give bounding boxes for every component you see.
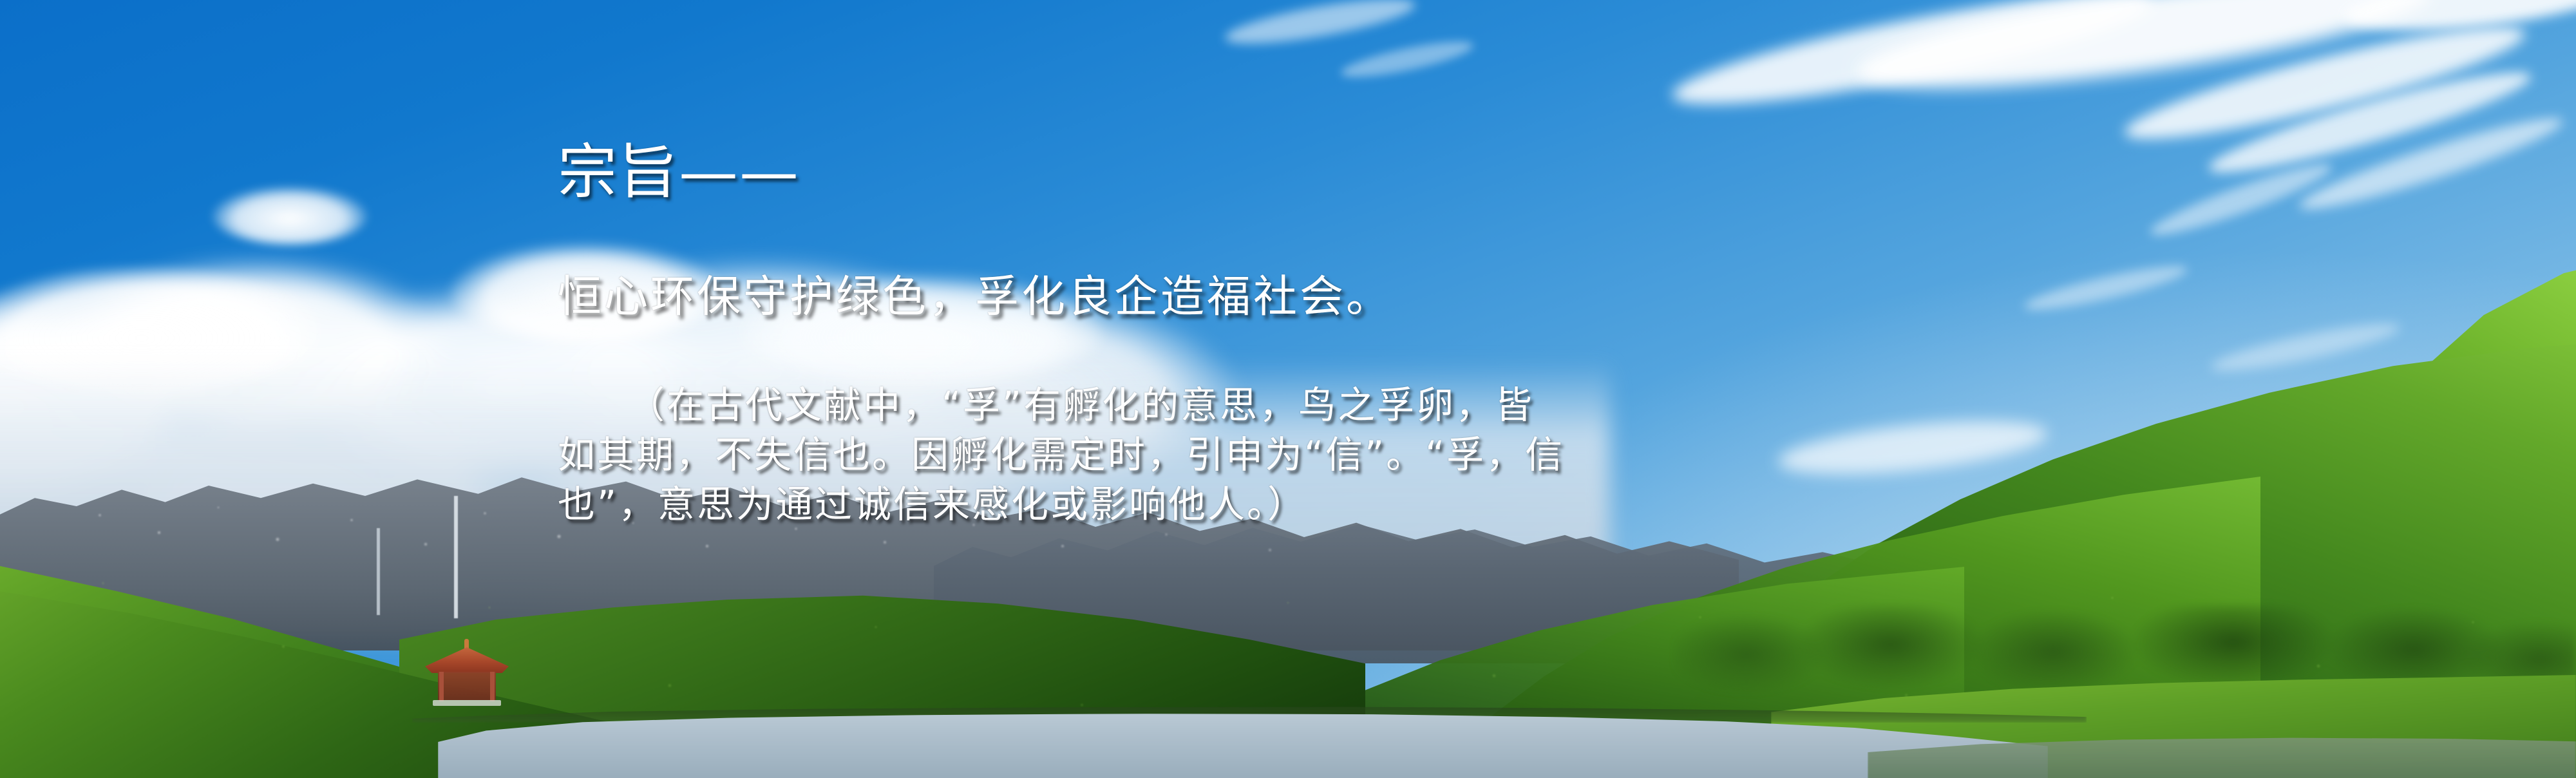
note-line-3: 也”，意思为通过诚信来感化或影响他人。）	[558, 486, 2039, 523]
note-line-1: （在古代文献中，“孚”有孵化的意思，鸟之孚卵，皆	[558, 386, 2039, 424]
company-mission-banner: 宗旨—— 恒心环保守护绿色，孚化良企造福社会。 （在古代文献中，“孚”有孵化的意…	[0, 0, 2576, 778]
banner-subtitle: 恒心环保守护绿色，孚化良企造福社会。	[558, 276, 1392, 319]
banner-note: （在古代文献中，“孚”有孵化的意思，鸟之孚卵，皆 如其期，不失信也。因孵化需定时…	[558, 386, 2039, 535]
text-overlay: 宗旨—— 恒心环保守护绿色，孚化良企造福社会。 （在古代文献中，“孚”有孵化的意…	[0, 0, 2576, 778]
note-line-2: 如其期，不失信也。因孵化需定时，引申为“信”。“孚，信	[558, 436, 2039, 473]
banner-title: 宗旨——	[558, 143, 800, 202]
